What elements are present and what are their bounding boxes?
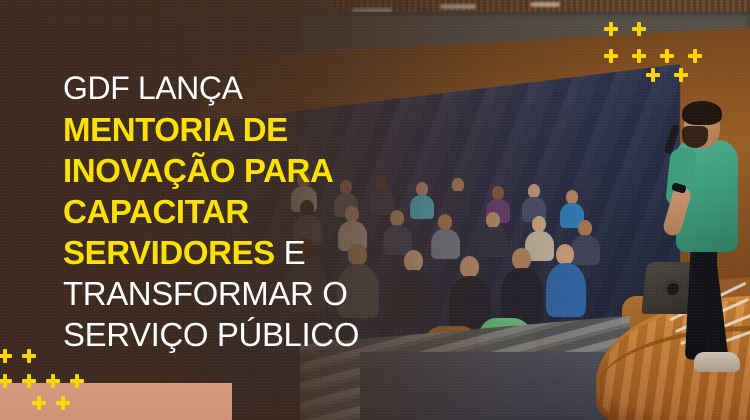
headline-line-4: CAPACITAR bbox=[63, 191, 493, 232]
promo-banner: GDF LANÇA MENTORIA DE INOVAÇÃO PARA CAPA… bbox=[0, 0, 750, 420]
headline-line-6: TRANSFORMAR O bbox=[63, 273, 493, 314]
plus-icon bbox=[0, 349, 12, 363]
plus-icon bbox=[604, 49, 618, 63]
plus-icon bbox=[674, 68, 688, 82]
headline-line-5-rest: E bbox=[275, 234, 305, 271]
headline-line-2: MENTORIA DE bbox=[63, 109, 493, 150]
plus-icon bbox=[604, 22, 618, 36]
headline-line-7: SERVIÇO PÚBLICO bbox=[63, 314, 493, 355]
plus-icon bbox=[660, 49, 674, 63]
headline-line-5: SERVIDORES E bbox=[63, 232, 493, 273]
plus-icon bbox=[646, 68, 660, 82]
plus-icon bbox=[56, 396, 70, 410]
plus-icon bbox=[688, 49, 702, 63]
plus-icon bbox=[0, 374, 12, 388]
plus-icon bbox=[22, 349, 36, 363]
headline-block: GDF LANÇA MENTORIA DE INOVAÇÃO PARA CAPA… bbox=[63, 68, 493, 355]
headline-line-1: GDF LANÇA bbox=[63, 68, 493, 109]
headline-line-3: INOVAÇÃO PARA bbox=[63, 150, 493, 191]
plus-icon bbox=[632, 49, 646, 63]
plus-icon bbox=[46, 374, 60, 388]
plus-icon bbox=[22, 374, 36, 388]
plus-icon bbox=[70, 374, 84, 388]
plus-icon bbox=[32, 396, 46, 410]
headline-highlight: SERVIDORES bbox=[63, 234, 275, 271]
plus-icon bbox=[632, 22, 646, 36]
